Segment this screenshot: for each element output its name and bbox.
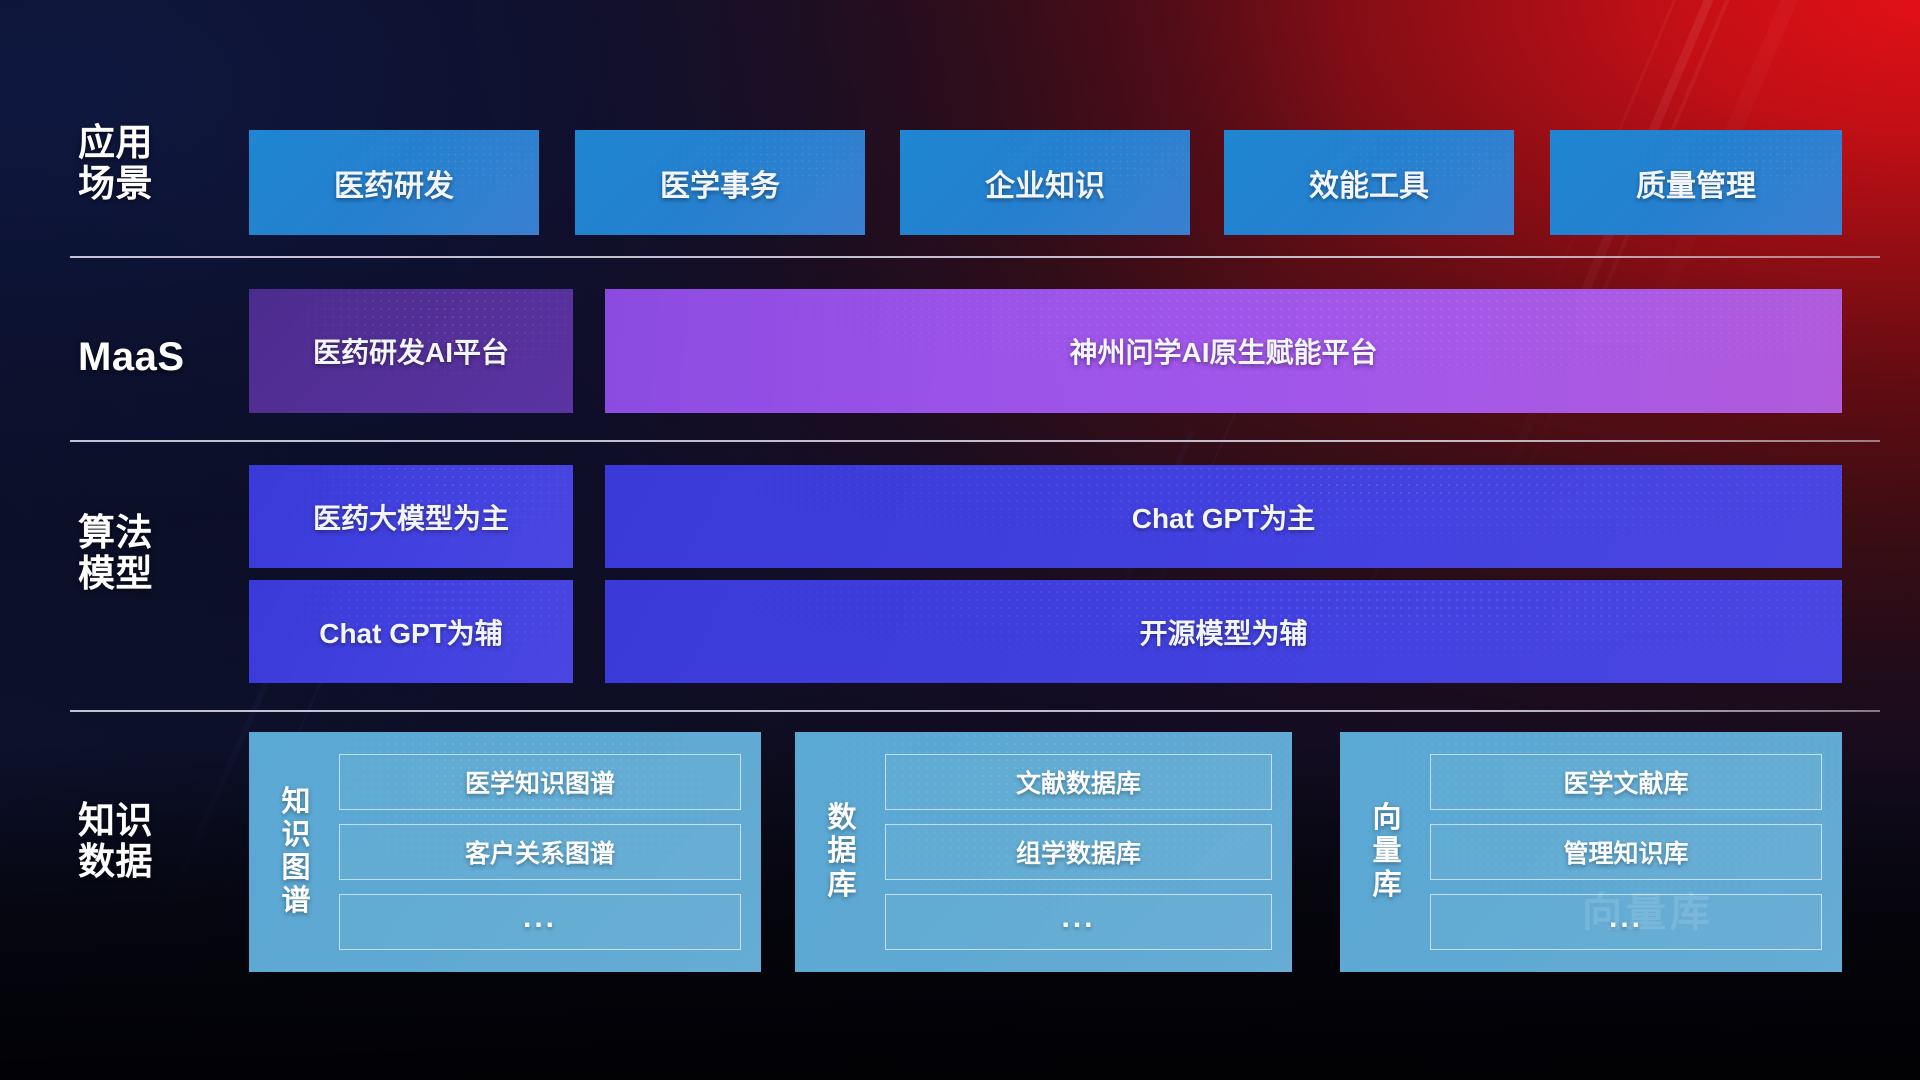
knowledge-item-label: 组学数据库 — [1016, 834, 1141, 870]
section-divider-2 — [70, 440, 1880, 442]
algo-box-label: 医药大模型为主 — [313, 497, 509, 537]
maas-box-shenzhou-wenxue-platform[interactable]: 神州问学AI原生赋能平台 — [605, 289, 1842, 413]
architecture-diagram: 应用 场景 医药研发 医学事务 企业知识 效能工具 质量管理 MaaS 医药研发… — [0, 0, 1920, 1080]
section-divider-3 — [70, 710, 1880, 712]
maas-box-drug-rnd-ai-platform[interactable]: 医药研发AI平台 — [249, 289, 573, 413]
knowledge-item-more[interactable]: ... — [1430, 894, 1822, 950]
row-label-algorithm-model: 算法 模型 — [78, 512, 153, 595]
knowledge-panel-knowledge-graph[interactable]: 知 识 图 谱 医学知识图谱 客户关系图谱 ... — [249, 732, 761, 972]
knowledge-panel-side-label: 向 量 库 — [1358, 802, 1416, 901]
knowledge-item-label: 文献数据库 — [1016, 764, 1141, 800]
algo-box-label: Chat GPT为主 — [1132, 497, 1316, 537]
scene-box-label: 医药研发 — [334, 161, 454, 205]
scene-box-label: 效能工具 — [1309, 161, 1429, 205]
knowledge-panel-item-list: 医学文献库 管理知识库 ... — [1416, 746, 1826, 958]
knowledge-item-label: ... — [1609, 901, 1643, 935]
algo-box-pharma-llm-primary[interactable]: 医药大模型为主 — [249, 465, 573, 568]
knowledge-item-label: ... — [523, 901, 557, 935]
knowledge-item-more[interactable]: ... — [339, 894, 741, 950]
row-label-knowledge-data: 知识 数据 — [78, 800, 153, 883]
knowledge-panel-side-label: 数 据 库 — [813, 802, 871, 901]
knowledge-item-management-knowledge-store[interactable]: 管理知识库 — [1430, 824, 1822, 880]
knowledge-item-more[interactable]: ... — [885, 894, 1272, 950]
knowledge-item-medical-literature-store[interactable]: 医学文献库 — [1430, 754, 1822, 810]
algo-box-chatgpt-secondary[interactable]: Chat GPT为辅 — [249, 580, 573, 683]
knowledge-item-label: ... — [1061, 901, 1095, 935]
scene-box-quality-management[interactable]: 质量管理 — [1550, 130, 1842, 235]
scene-box-label: 医学事务 — [660, 161, 780, 205]
algo-box-opensource-secondary[interactable]: 开源模型为辅 — [605, 580, 1842, 683]
scene-box-efficiency-tools[interactable]: 效能工具 — [1224, 130, 1514, 235]
maas-box-label: 神州问学AI原生赋能平台 — [1069, 331, 1377, 371]
row-label-application-scenario: 应用 场景 — [78, 122, 153, 205]
knowledge-panel-side-label: 知 识 图 谱 — [267, 786, 325, 918]
algo-box-chatgpt-primary[interactable]: Chat GPT为主 — [605, 465, 1842, 568]
scene-box-medical-affairs[interactable]: 医学事务 — [575, 130, 865, 235]
scene-box-label: 质量管理 — [1636, 161, 1756, 205]
scene-box-drug-rnd[interactable]: 医药研发 — [249, 130, 539, 235]
section-divider-1 — [70, 256, 1880, 258]
knowledge-item-label: 客户关系图谱 — [465, 834, 615, 870]
knowledge-panel-item-list: 文献数据库 组学数据库 ... — [871, 746, 1276, 958]
algo-box-label: 开源模型为辅 — [1139, 612, 1307, 652]
algo-box-label: Chat GPT为辅 — [319, 612, 503, 652]
knowledge-panel-item-list: 医学知识图谱 客户关系图谱 ... — [325, 746, 745, 958]
scene-box-label: 企业知识 — [985, 161, 1105, 205]
knowledge-item-label: 管理知识库 — [1563, 834, 1688, 870]
knowledge-item-literature-db[interactable]: 文献数据库 — [885, 754, 1272, 810]
knowledge-item-medical-kg[interactable]: 医学知识图谱 — [339, 754, 741, 810]
knowledge-item-label: 医学知识图谱 — [465, 764, 615, 800]
row-label-maas: MaaS — [78, 335, 185, 380]
knowledge-panel-database[interactable]: 数 据 库 文献数据库 组学数据库 ... — [795, 732, 1292, 972]
scene-box-enterprise-knowledge[interactable]: 企业知识 — [900, 130, 1190, 235]
maas-box-label: 医药研发AI平台 — [313, 331, 509, 371]
knowledge-item-customer-relation-kg[interactable]: 客户关系图谱 — [339, 824, 741, 880]
knowledge-item-label: 医学文献库 — [1563, 764, 1688, 800]
knowledge-panel-vector-store[interactable]: 向量库 向 量 库 医学文献库 管理知识库 ... — [1340, 732, 1842, 972]
knowledge-item-omics-db[interactable]: 组学数据库 — [885, 824, 1272, 880]
